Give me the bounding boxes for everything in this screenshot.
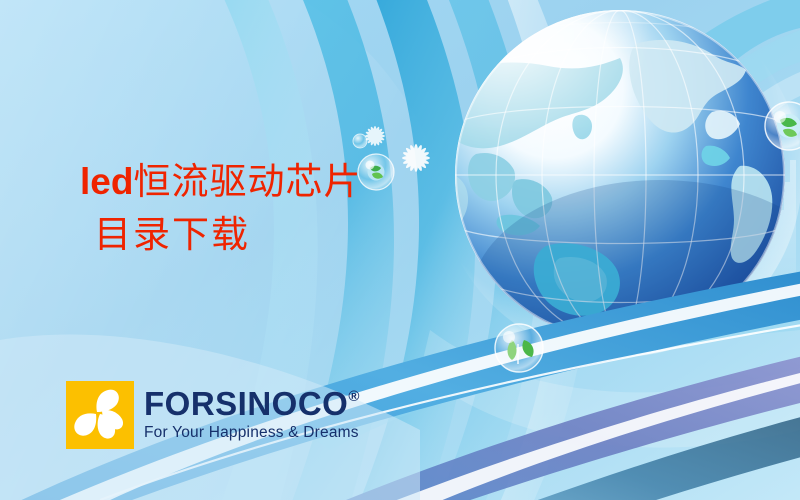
bubble-leaf [495, 324, 543, 372]
flower-sparkle [365, 126, 385, 146]
logo-wordmark: FORSINOCO® [144, 387, 359, 420]
bubble-globe [358, 154, 394, 190]
headline-line-1: led恒流驱动芯片 [80, 162, 361, 203]
registered-mark-icon: ® [348, 388, 359, 405]
flower-sparkle [402, 144, 430, 172]
headline: led恒流驱动芯片 目录下载 [80, 162, 361, 256]
pinwheel-flower-icon [66, 381, 134, 449]
logo-wordmark-text: FORSINOCO [144, 385, 348, 422]
promo-banner: led恒流驱动芯片 目录下载 FORSINOCO® For Your Happi… [0, 0, 800, 500]
headline-line-2: 目录下载 [94, 216, 361, 256]
bubble-small [353, 134, 367, 148]
logo-tagline: For Your Happiness & Dreams [144, 425, 359, 441]
logo-text-block: FORSINOCO® For Your Happiness & Dreams [144, 387, 359, 443]
company-logo: FORSINOCO® For Your Happiness & Dreams [66, 381, 359, 449]
headline-cjk: 恒流驱动芯片 [133, 162, 361, 203]
headline-latin: led [80, 161, 133, 202]
